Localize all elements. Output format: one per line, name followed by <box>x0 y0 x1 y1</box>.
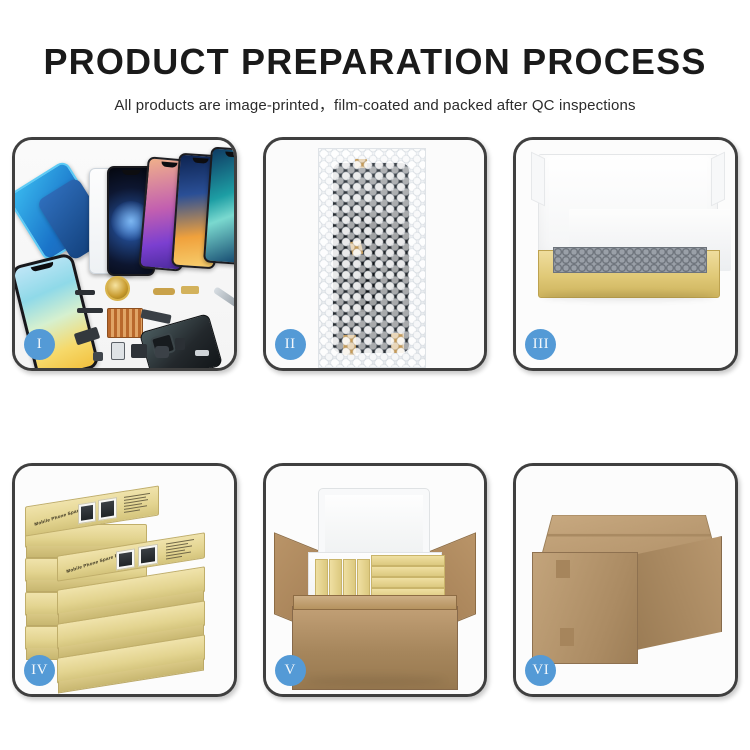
step-panel-2[interactable]: II <box>263 137 488 371</box>
bubble-texture <box>319 149 425 367</box>
step-panel-4[interactable]: Mobile Phone Spare Parts Mobile Phone Sp… <box>12 463 237 697</box>
phone-notch <box>225 152 234 158</box>
box-window-preview <box>116 548 135 570</box>
speaker-part <box>155 346 169 358</box>
bubble-wrap-bag <box>318 148 426 368</box>
small-component-part <box>175 338 185 350</box>
vibration-coil-part <box>105 276 130 301</box>
phone-notch <box>31 262 55 272</box>
box-spec-lines <box>166 539 194 561</box>
header: PRODUCT PREPARATION PROCESS All products… <box>0 0 750 115</box>
tape-seal <box>560 628 574 646</box>
phone-notch <box>122 170 140 175</box>
box-spec-lines <box>124 493 150 515</box>
step-badge-1: I <box>24 329 55 360</box>
carton-front-face <box>532 552 638 664</box>
kraft-box-tray <box>538 250 720 298</box>
page-subtitle: All products are image-printed，film-coat… <box>0 80 750 115</box>
step-badge-4: IV <box>24 655 55 686</box>
drop-shadow <box>305 676 445 686</box>
drop-shadow <box>542 292 714 301</box>
step-panel-5[interactable]: V <box>263 463 488 697</box>
infographic-page: PRODUCT PREPARATION PROCESS All products… <box>0 0 750 750</box>
box-window-preview <box>78 501 96 524</box>
gold-connector-part <box>153 288 175 295</box>
step-badge-2: II <box>275 329 306 360</box>
carton-side-face <box>636 536 722 650</box>
small-component-part <box>131 344 147 358</box>
flex-cable-part <box>140 309 171 324</box>
step-panel-1[interactable]: I <box>12 137 237 371</box>
tape-seal <box>556 560 570 578</box>
screw-set-part <box>195 350 209 356</box>
step-panel-3[interactable]: III <box>513 137 738 371</box>
box-window-preview <box>138 544 158 567</box>
earpiece-mesh-part <box>75 290 95 295</box>
phone-notch <box>161 162 177 168</box>
step-badge-5: V <box>275 655 306 686</box>
camera-module-part <box>111 342 125 360</box>
page-title: PRODUCT PREPARATION PROCESS <box>0 0 750 80</box>
box-window-preview <box>98 497 117 521</box>
step-panel-6[interactable]: VI <box>513 463 738 697</box>
box-stack: Mobile Phone Spare Parts Mobile Phone Sp… <box>21 478 233 688</box>
small-component-part <box>93 352 103 361</box>
flex-cable-part <box>77 308 103 313</box>
process-steps-grid: I II <box>12 137 738 697</box>
phone-notch <box>192 158 208 164</box>
gold-connector-part <box>181 286 199 294</box>
screwdriver-tool <box>213 286 234 316</box>
chip-grid-part <box>107 308 143 338</box>
bubble-wrapped-contents <box>553 247 707 273</box>
